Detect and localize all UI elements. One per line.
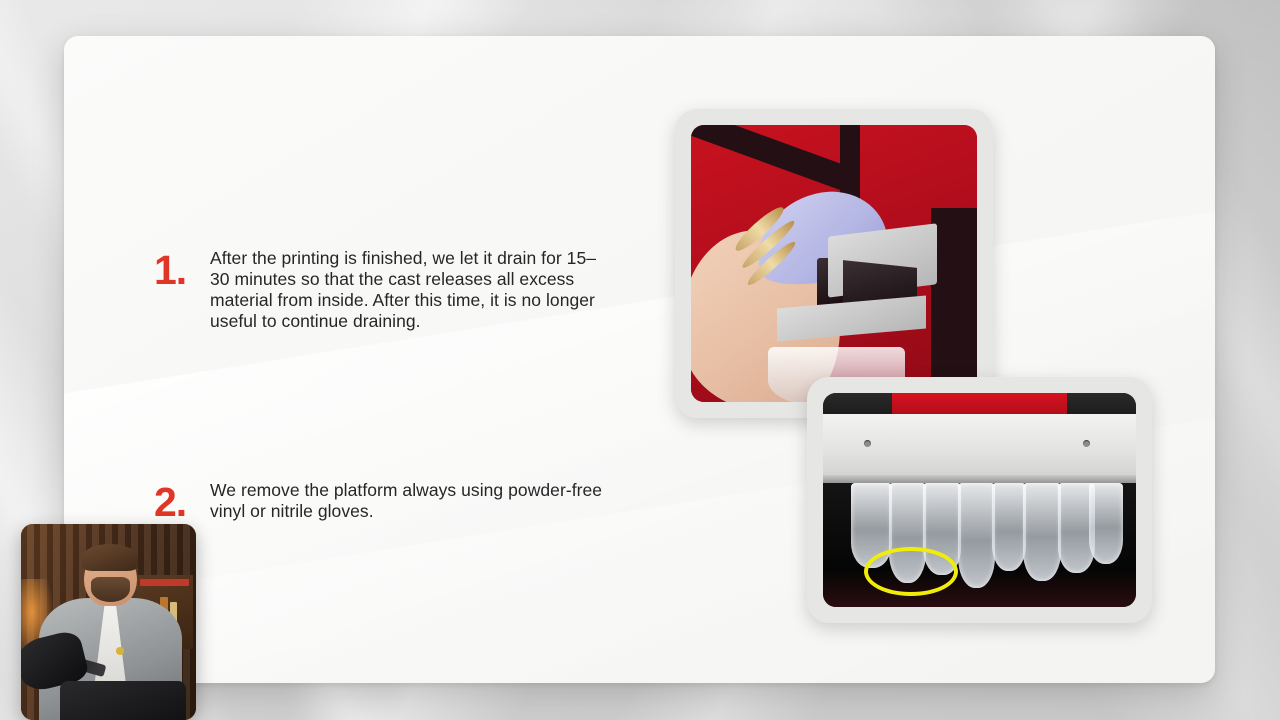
step-number: 1.: [154, 248, 210, 291]
presenter-hair: [82, 544, 138, 571]
list-item: 2. We remove the platform always using p…: [154, 480, 714, 523]
step-number: 2.: [154, 480, 210, 523]
slide-card: 1. After the printing is finished, we le…: [64, 36, 1215, 683]
platform-photo-frame: [807, 377, 1152, 623]
resin-cast: [1089, 483, 1123, 564]
instruction-list: 1. After the printing is finished, we le…: [154, 248, 714, 523]
yellow-ellipse-highlight: [864, 547, 958, 596]
book: [140, 579, 189, 586]
resin-cast: [1023, 483, 1061, 581]
presenter-webcam[interactable]: [21, 524, 196, 720]
build-plate: [823, 414, 1136, 482]
step-text: After the printing is finished, we let i…: [210, 248, 610, 332]
plate-screw: [864, 440, 871, 447]
printer-photo-frame: [675, 109, 993, 418]
resin-cast: [958, 483, 996, 588]
printer-side-panel: [931, 208, 977, 402]
list-item: 1. After the printing is finished, we le…: [154, 248, 714, 332]
resin-cast: [992, 483, 1026, 571]
plate-screw: [1083, 440, 1090, 447]
printer-photo: [691, 125, 977, 402]
platform-photo: [823, 393, 1136, 607]
presenter-beard: [91, 577, 130, 602]
step-text: We remove the platform always using powd…: [210, 480, 610, 522]
desk-equipment: [60, 681, 186, 720]
